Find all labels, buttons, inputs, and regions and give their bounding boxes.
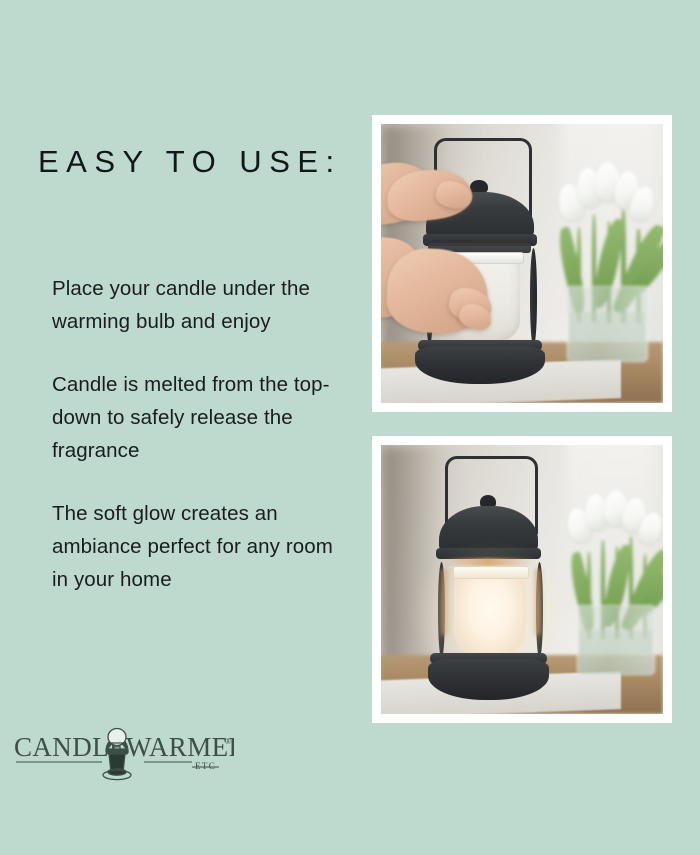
hand — [381, 160, 528, 361]
step-item-3: The soft glow creates an ambiance perfec… — [52, 497, 342, 596]
photo-lantern-glowing — [381, 445, 663, 714]
brand-logo: CANDLE WARMERS ® ETC — [14, 722, 234, 784]
photo-frame-lantern-glowing — [372, 436, 672, 723]
page-title: EASY TO USE: — [38, 143, 342, 181]
svg-text:®: ® — [225, 737, 231, 746]
step-item-2: Candle is melted from the top-down to sa… — [52, 368, 342, 467]
lantern-candle-warmer — [429, 453, 553, 706]
steps-list: Place your candle under the warming bulb… — [52, 272, 342, 596]
tulips-bouquet — [545, 157, 663, 375]
copy-column: EASY TO USE: Place your candle under the… — [0, 0, 360, 855]
marketing-slide: EASY TO USE: Place your candle under the… — [0, 0, 700, 855]
glowing-candle — [454, 567, 526, 658]
photo-placing-candle — [381, 124, 663, 403]
svg-text:ETC: ETC — [195, 761, 216, 771]
photo-frame-placing-candle — [372, 115, 672, 412]
step-item-1: Place your candle under the warming bulb… — [52, 272, 342, 338]
svg-text:WARMERS: WARMERS — [126, 732, 234, 762]
